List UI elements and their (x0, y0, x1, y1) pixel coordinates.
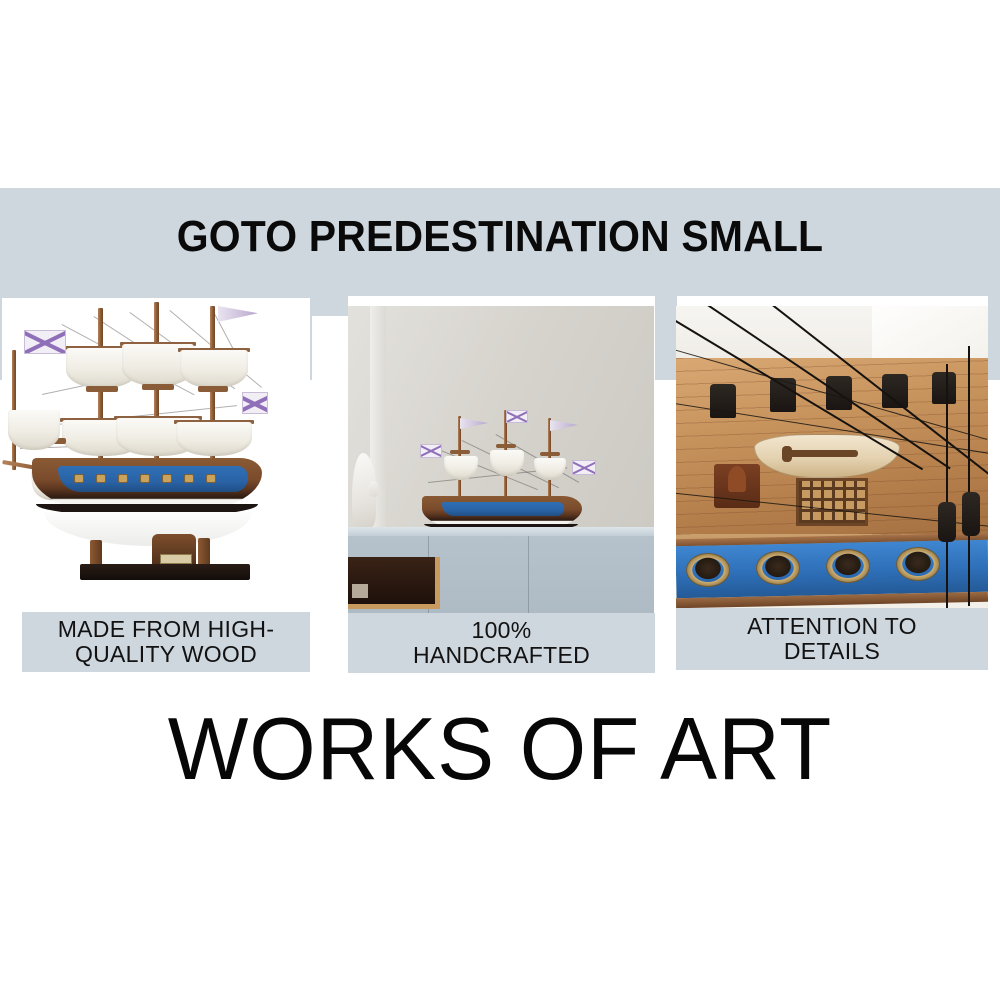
decor-sculpture-detail (368, 481, 379, 497)
ornate-gun-port (826, 549, 870, 583)
feature-image-details (676, 306, 988, 613)
flag-st-andrews (420, 444, 442, 458)
flag-pennant (218, 306, 258, 322)
open-cabinet-compartment (348, 557, 440, 609)
caption-text: ATTENTION TO DETAILS (747, 614, 917, 664)
gun-port (184, 474, 194, 483)
hull-blue-stripe (442, 502, 564, 516)
feature-caption-wood: MADE FROM HIGH- QUALITY WOOD (22, 612, 310, 672)
gun-port (162, 474, 172, 483)
flag-st-andrews (242, 392, 268, 414)
lifeboat-fitting (782, 446, 792, 462)
caption-line-1: ATTENTION TO (747, 613, 917, 639)
stand-post (198, 538, 210, 566)
gun-port (74, 474, 84, 483)
hull-white-bottom (44, 512, 252, 546)
caption-line-1: MADE FROM HIGH- (58, 616, 275, 642)
deck-fitting (932, 372, 956, 404)
product-feature-graphic: GOTO PREDESTINATION SMALL (0, 0, 1000, 1000)
top-platform (86, 386, 118, 392)
gun-port (96, 474, 106, 483)
rigging-rope-vertical (968, 346, 970, 606)
gun-port (140, 474, 150, 483)
banner-background-extension-mid (312, 296, 348, 316)
model-ship-studio (2, 298, 310, 606)
feature-caption-handcrafted: 100% HANDCRAFTED (348, 613, 655, 673)
cabinet-contents (352, 584, 368, 598)
caption-text: 100% HANDCRAFTED (413, 618, 590, 668)
flag-st-andrews (506, 410, 528, 423)
name-plaque (160, 554, 192, 564)
top-platform (142, 384, 174, 390)
lifeboat-thwart (784, 450, 858, 457)
top-platform (496, 444, 516, 448)
top-platform (540, 452, 560, 456)
flag-st-andrews (572, 460, 596, 475)
banner-background-gap-fill (655, 296, 677, 380)
flag-pennant (550, 420, 578, 431)
sideboard-furniture (348, 527, 654, 613)
sideboard-top-surface (348, 527, 654, 536)
top-platform (450, 450, 470, 454)
feature-image-handcrafted (348, 306, 654, 613)
ornate-gun-port (756, 551, 800, 585)
top-platform (198, 386, 228, 392)
ornate-gun-port (896, 547, 940, 581)
rigging-rope-vertical (946, 364, 948, 613)
gun-port (206, 474, 216, 483)
deck-grating-hatch (796, 478, 868, 526)
banner-background-edge-right (988, 296, 1000, 380)
stand-base (80, 564, 250, 580)
flag-pennant (460, 418, 488, 429)
caption-line-2: DETAILS (784, 638, 880, 664)
caption-line-2: HANDCRAFTED (413, 642, 590, 668)
ornate-gun-port (686, 553, 730, 587)
sideboard-door-seam (528, 536, 529, 613)
product-title: GOTO PREDESTINATION SMALL (35, 212, 965, 262)
caption-line-1: 100% (471, 617, 531, 643)
deadeye-block (938, 502, 956, 542)
sail (180, 350, 248, 388)
stand-post (90, 540, 102, 566)
sail-bow (8, 410, 60, 450)
deadeye-block (962, 492, 980, 536)
ships-bell (728, 466, 746, 492)
caption-line-2: QUALITY WOOD (75, 641, 257, 667)
feature-caption-details: ATTENTION TO DETAILS (676, 608, 988, 670)
flag-st-andrews (24, 330, 66, 354)
sail (176, 422, 252, 456)
deck-fitting (882, 374, 908, 408)
marketing-headline: WORKS OF ART (15, 698, 985, 800)
caption-text: MADE FROM HIGH- QUALITY WOOD (58, 617, 275, 667)
feature-image-wood (2, 298, 310, 606)
hull-blue-stripe (58, 466, 248, 492)
gun-port (118, 474, 128, 483)
